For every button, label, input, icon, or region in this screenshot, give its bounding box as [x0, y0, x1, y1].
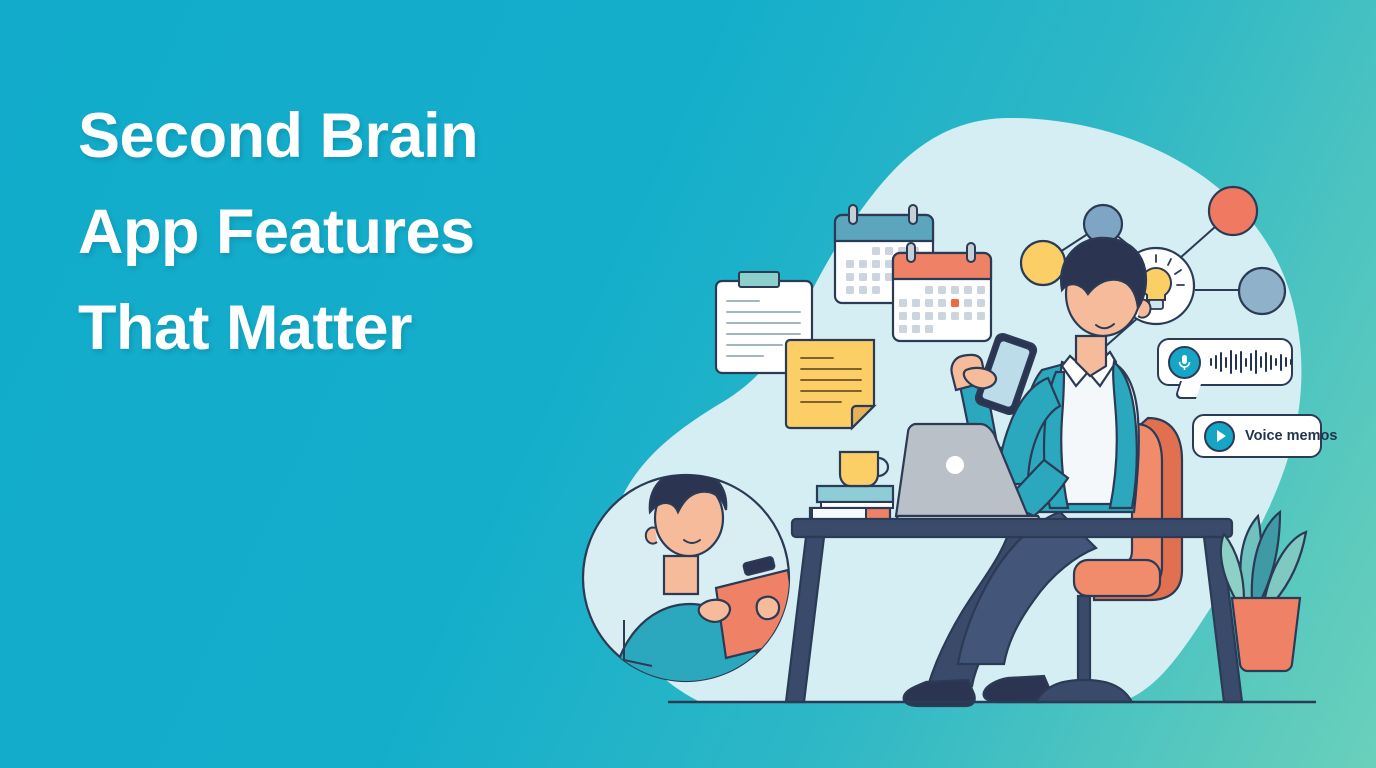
- graph-node-yellow: [1021, 241, 1065, 285]
- sticky-note-yellow: [786, 340, 874, 428]
- audio-waveform: [1210, 349, 1292, 375]
- microphone-icon: [1168, 346, 1201, 379]
- graph-node-coral: [1209, 187, 1257, 235]
- graph-node-blue: [1239, 268, 1285, 314]
- calendar-coral: [893, 243, 991, 341]
- poster-canvas: Second Brain App Features That Matter: [0, 0, 1376, 768]
- voice-waveform-bubble[interactable]: [1157, 338, 1293, 386]
- book-stack: [810, 486, 893, 522]
- voice-memos-label: Voice memos: [1245, 428, 1337, 444]
- voice-memos-button[interactable]: Voice memos: [1192, 414, 1322, 458]
- play-icon: [1204, 421, 1235, 452]
